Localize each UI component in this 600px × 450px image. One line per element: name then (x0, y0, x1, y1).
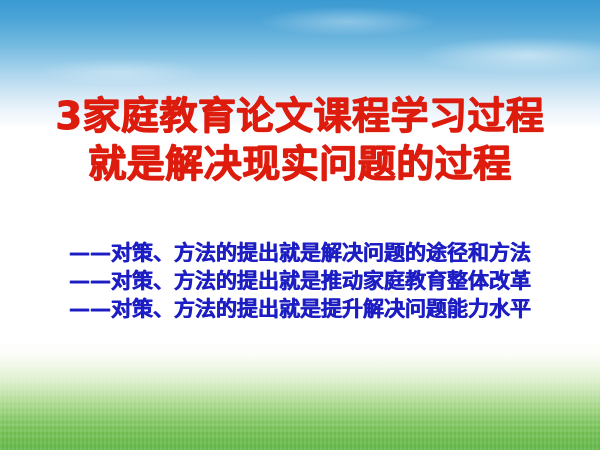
title-line-1: 3家庭教育论文课程学习过程 (0, 92, 600, 140)
body-line-3: ——对策、方法的提出就是提升解决问题能力水平 (0, 295, 600, 323)
slide-content: 3家庭教育论文课程学习过程 就是解决现实问题的过程 ——对策、方法的提出就是解决… (0, 0, 600, 450)
slide-canvas: 3家庭教育论文课程学习过程 就是解决现实问题的过程 ——对策、方法的提出就是解决… (0, 0, 600, 450)
body-line-1: ——对策、方法的提出就是解决问题的途径和方法 (0, 239, 600, 267)
slide-title: 3家庭教育论文课程学习过程 就是解决现实问题的过程 (0, 92, 600, 188)
title-line-2: 就是解决现实问题的过程 (0, 140, 600, 188)
body-line-2: ——对策、方法的提出就是推动家庭教育整体改革 (0, 267, 600, 295)
slide-body-list: ——对策、方法的提出就是解决问题的途径和方法 ——对策、方法的提出就是推动家庭教… (0, 239, 600, 323)
